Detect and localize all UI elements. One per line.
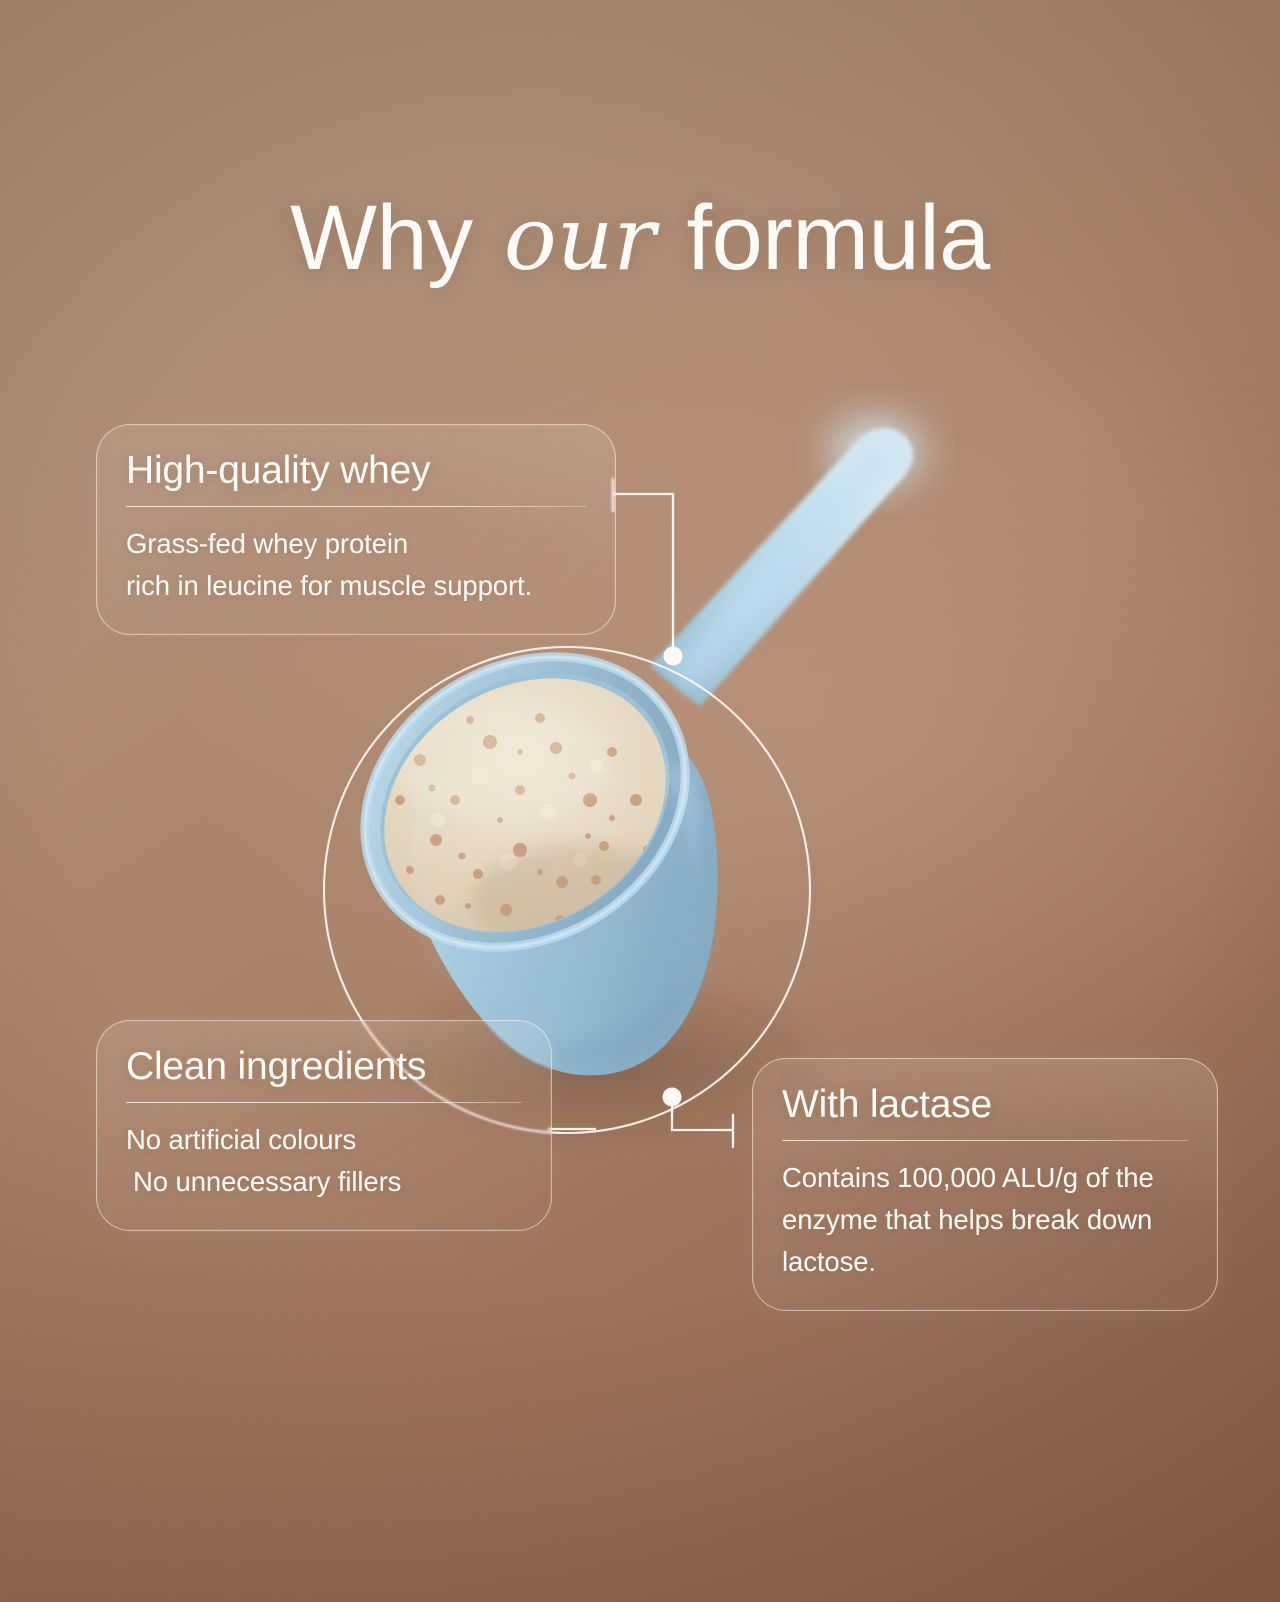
feature-card-title: Clean ingredients [126,1046,522,1088]
feature-card-clean-ingredients: Clean ingredients No artificial colours … [96,1020,552,1231]
feature-card-body-line: No artificial colours [126,1119,522,1161]
feature-card-divider [126,1102,522,1103]
feature-card-body: Grass-fed whey protein rich in leucine f… [126,523,586,607]
feature-card-divider [126,506,586,507]
title-word-why: Why [290,187,473,289]
feature-card-body: No artificial colours No unnecessary fil… [126,1119,522,1203]
feature-card-high-quality-whey: High-quality whey Grass-fed whey protein… [96,424,616,635]
feature-card-divider [782,1140,1188,1141]
feature-card-body-line: No unnecessary fillers [126,1161,522,1203]
feature-card-title: With lactase [782,1084,1188,1126]
feature-card-body-line: Contains 100,000 ALU/g of the enzyme tha… [782,1157,1188,1282]
feature-card-body-line: Grass-fed whey protein [126,523,586,565]
title-word-our: our [498,187,662,290]
page-title: Why our formula [0,192,1280,284]
feature-card-body: Contains 100,000 ALU/g of the enzyme tha… [782,1157,1188,1282]
feature-card-with-lactase: With lactase Contains 100,000 ALU/g of t… [752,1058,1218,1311]
promo-graphic: Why our formula High-quality whey Grass-… [0,0,1280,1602]
title-word-formula: formula [687,187,990,289]
feature-card-title: High-quality whey [126,450,586,492]
feature-card-body-line: rich in leucine for muscle support. [126,565,586,607]
